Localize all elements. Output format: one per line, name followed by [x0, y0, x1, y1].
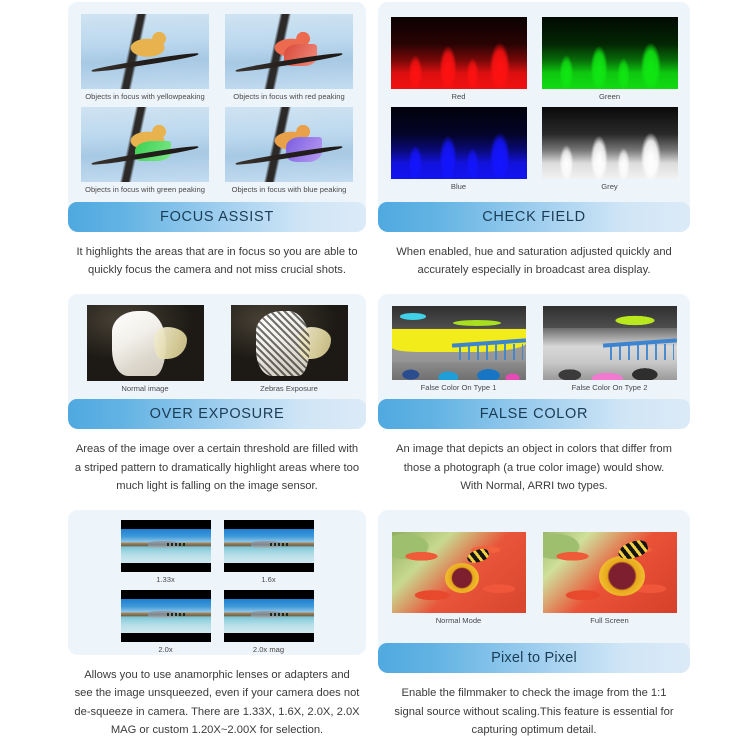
thumbnail-grid: False Color On Type 1 False Color On Typ… — [386, 306, 682, 394]
panel-focus-assist: Objects in focus with yellowpeaking Obje… — [68, 2, 366, 290]
lake-1-6x-image — [224, 520, 314, 572]
thumbnail-item: Full Screen — [543, 532, 677, 627]
thumbnail-caption: Objects in focus with red peaking — [233, 92, 344, 101]
forest-grey-channel-image — [542, 107, 678, 179]
over-exposure-card: Normal image Zebras Exposure OVER EXPOSU… — [68, 294, 366, 429]
bird-blue-peaking-image — [225, 107, 353, 182]
thumbnail-item: Objects in focus with yellowpeaking — [81, 14, 209, 103]
thumbnail-item: 2.0x — [121, 590, 211, 655]
lake-2-0x-image — [121, 590, 211, 642]
panel-title-pixel-to-pixel: Pixel to Pixel — [378, 643, 690, 673]
focus-assist-card: Objects in focus with yellowpeaking Obje… — [68, 2, 366, 232]
thumbnail-caption: Normal image — [121, 384, 168, 393]
thumbnail-grid: Objects in focus with yellowpeaking Obje… — [76, 14, 358, 196]
panel-description-check-field: When enabled, hue and saturation adjuste… — [378, 243, 690, 279]
thumbnail-caption: Grey — [601, 182, 617, 191]
forest-green-channel-image — [542, 17, 678, 89]
anamorphic-images: 1.33x 1.6x 2.0x 2.0x mag — [68, 510, 366, 655]
thumbnail-caption: Green — [599, 92, 620, 101]
thumbnail-grid: 1.33x 1.6x 2.0x 2.0x mag — [117, 520, 317, 655]
panel-pixel-to-pixel: Normal Mode Full Screen Pixel to Pixel E… — [378, 510, 690, 750]
panel-description-anamorphic: Allows you to use anamorphic lenses or a… — [68, 666, 366, 739]
thumbnail-item: Grey — [542, 107, 678, 193]
horse-normal-image — [87, 305, 204, 381]
thumbnail-caption: Objects in focus with yellowpeaking — [85, 92, 204, 101]
pixel-to-pixel-images: Normal Mode Full Screen — [378, 510, 690, 643]
false-color-type1-image — [392, 306, 526, 380]
panel-title-false-color: FALSE COLOR — [378, 399, 690, 429]
thumbnail-item: Objects in focus with green peaking — [81, 107, 209, 196]
thumbnail-item: Objects in focus with blue peaking — [225, 107, 353, 196]
panel-false-color: False Color On Type 1 False Color On Typ… — [378, 294, 690, 506]
thumbnail-caption: 2.0x — [158, 645, 172, 654]
panel-title-over-exposure: OVER EXPOSURE — [68, 399, 366, 429]
thumbnail-caption: Zebras Exposure — [260, 384, 318, 393]
panel-description-over-exposure: Areas of the image over a certain thresh… — [68, 440, 366, 494]
thumbnail-caption: Objects in focus with green peaking — [85, 185, 205, 194]
over-exposure-images: Normal image Zebras Exposure — [68, 294, 366, 399]
thumbnail-item: False Color On Type 2 — [543, 306, 677, 394]
lake-2-0x-mag-image — [224, 590, 314, 642]
panel-title-check-field: CHECK FIELD — [378, 202, 690, 232]
thumbnail-caption: False Color On Type 1 — [421, 383, 497, 392]
thumbnail-caption: 1.6x — [261, 575, 275, 584]
false-color-type2-image — [543, 306, 677, 380]
flower-full-screen-image — [543, 532, 677, 613]
flower-normal-mode-image — [392, 532, 526, 613]
pixel-to-pixel-card: Normal Mode Full Screen Pixel to Pixel — [378, 510, 690, 673]
thumbnail-item: Normal image — [87, 305, 204, 395]
focus-assist-images: Objects in focus with yellowpeaking Obje… — [68, 2, 366, 202]
panel-description-focus-assist: It highlights the areas that are in focu… — [68, 243, 366, 279]
thumbnail-grid: Normal image Zebras Exposure — [76, 305, 358, 395]
thumbnail-caption: 1.33x — [156, 575, 175, 584]
panel-over-exposure: Normal image Zebras Exposure OVER EXPOSU… — [68, 294, 366, 506]
thumbnail-caption: 2.0x mag — [253, 645, 284, 654]
thumbnail-item: Objects in focus with red peaking — [225, 14, 353, 103]
check-field-images: Red Green Blue Grey — [378, 2, 690, 202]
thumbnail-caption: Objects in focus with blue peaking — [232, 185, 347, 194]
bird-red-peaking-image — [225, 14, 353, 89]
false-color-card: False Color On Type 1 False Color On Typ… — [378, 294, 690, 429]
lake-1-33x-image — [121, 520, 211, 572]
thumbnail-item: Red — [391, 17, 527, 103]
thumbnail-caption: Normal Mode — [436, 616, 482, 625]
anamorphic-card: 1.33x 1.6x 2.0x 2.0x mag A — [68, 510, 366, 655]
thumbnail-item: 1.6x — [224, 520, 314, 586]
thumbnail-item: Zebras Exposure — [231, 305, 348, 395]
thumbnail-caption: Blue — [451, 182, 466, 191]
forest-red-channel-image — [391, 17, 527, 89]
forest-blue-channel-image — [391, 107, 527, 179]
thumbnail-item: Normal Mode — [392, 532, 526, 627]
panel-title-focus-assist: FOCUS ASSIST — [68, 202, 366, 232]
thumbnail-item: 2.0x mag — [224, 590, 314, 655]
panel-description-false-color: An image that depicts an object in color… — [378, 440, 690, 494]
thumbnail-item: False Color On Type 1 — [392, 306, 526, 394]
thumbnail-caption: False Color On Type 2 — [572, 383, 648, 392]
thumbnail-grid: Red Green Blue Grey — [386, 17, 682, 193]
bird-green-peaking-image — [81, 107, 209, 182]
horse-zebra-exposure-image — [231, 305, 348, 381]
panel-anamorphic: 1.33x 1.6x 2.0x 2.0x mag A — [68, 510, 366, 750]
thumbnail-caption: Full Screen — [590, 616, 628, 625]
thumbnail-item: Green — [542, 17, 678, 103]
feature-grid: Objects in focus with yellowpeaking Obje… — [0, 0, 750, 750]
thumbnail-item: 1.33x — [121, 520, 211, 586]
false-color-images: False Color On Type 1 False Color On Typ… — [378, 294, 690, 399]
bird-yellow-peaking-image — [81, 14, 209, 89]
thumbnail-grid: Normal Mode Full Screen — [386, 532, 682, 627]
panel-description-pixel-to-pixel: Enable the filmmaker to check the image … — [378, 684, 690, 738]
check-field-card: Red Green Blue Grey CHECK — [378, 2, 690, 232]
thumbnail-item: Blue — [391, 107, 527, 193]
thumbnail-caption: Red — [452, 92, 466, 101]
panel-check-field: Red Green Blue Grey CHECK — [378, 2, 690, 290]
